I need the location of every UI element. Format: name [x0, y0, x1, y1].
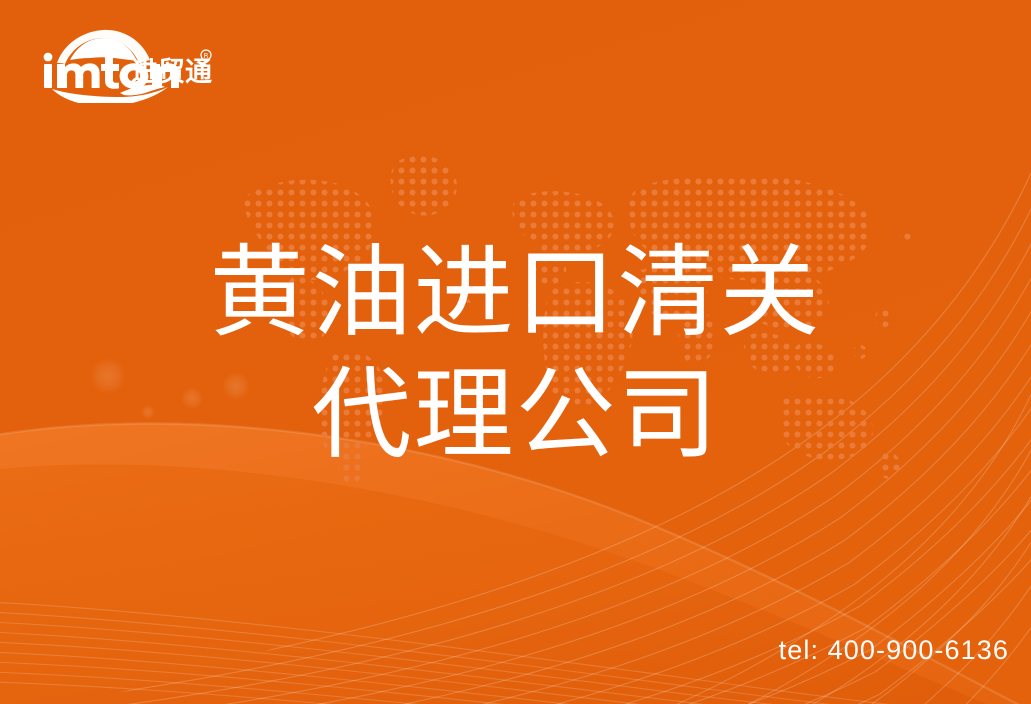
- page-title: 黄油进口清关 代理公司: [0, 232, 1031, 476]
- contact-telephone[interactable]: tel: 400-900-6136: [779, 635, 1009, 666]
- brand-logo[interactable]: 进贸通 R: [38, 27, 213, 103]
- logo-artwork: 进贸通 R: [38, 27, 213, 103]
- headline-line-2: 代理公司: [0, 354, 1031, 476]
- registered-mark-letter: R: [204, 52, 209, 60]
- promo-banner: 进贸通 R 黄油进口清关 代理公司 tel: 400-900-6136: [0, 0, 1031, 704]
- headline-line-1: 黄油进口清关: [0, 232, 1031, 354]
